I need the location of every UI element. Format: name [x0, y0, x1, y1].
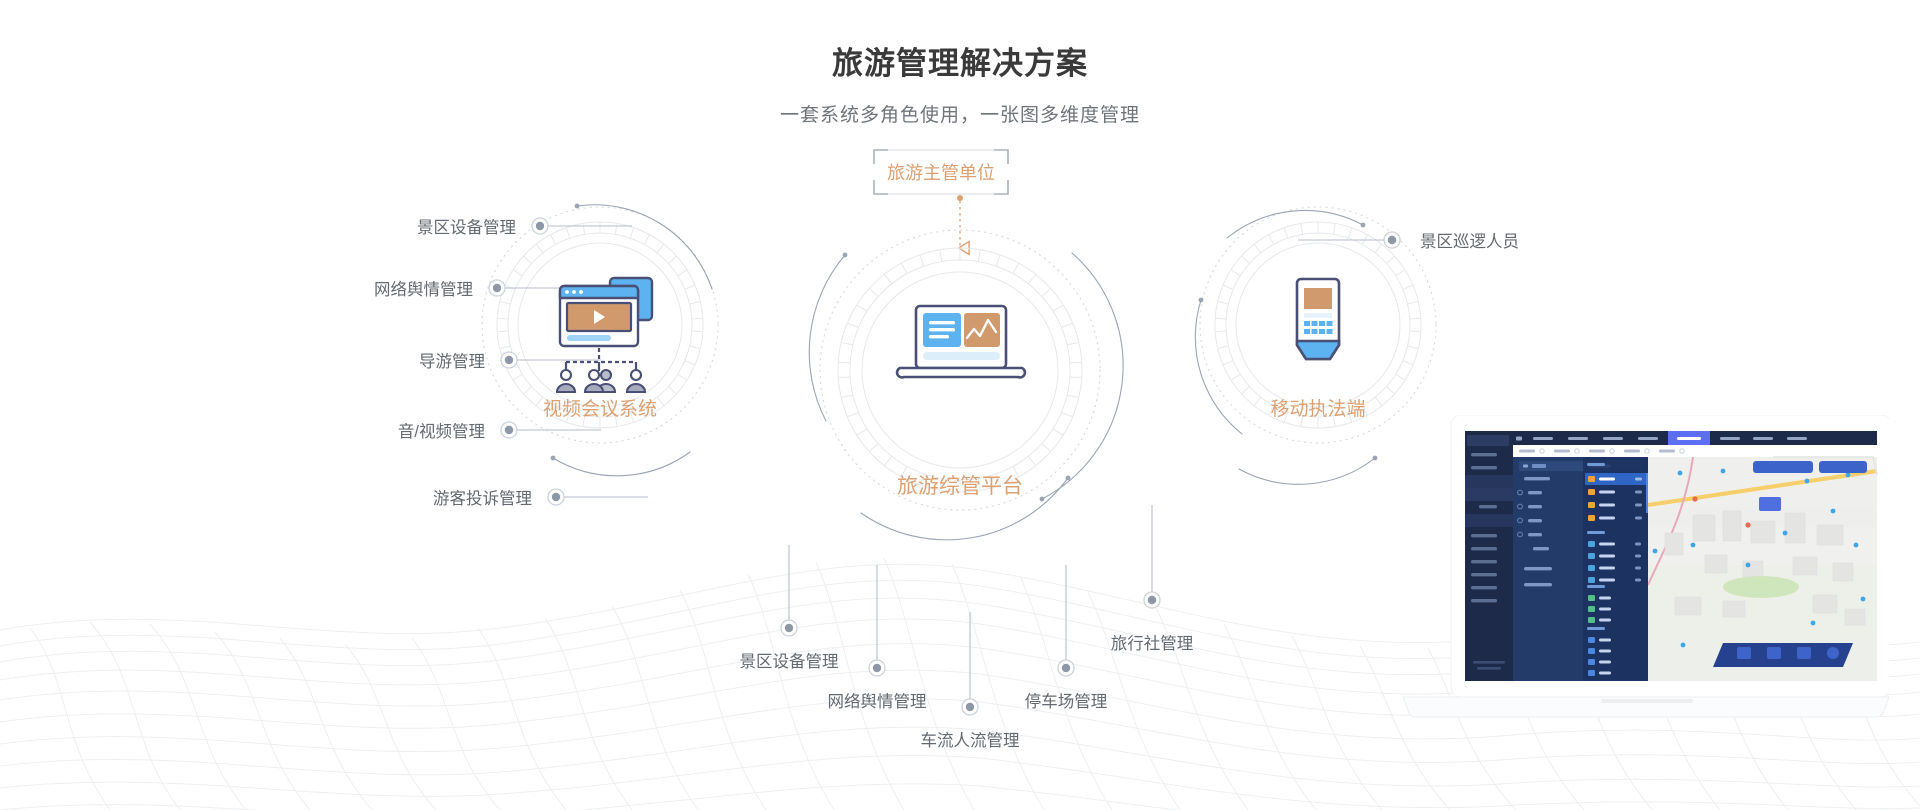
authority-label: 旅游主管单位 [874, 152, 1008, 192]
mobile-terminal-icon [1297, 279, 1339, 359]
label-left-2: 网络舆情管理 [193, 276, 473, 300]
label-bottom-1: 景区设备管理 [669, 648, 909, 672]
authority-connector [957, 195, 963, 248]
right-dots [1384, 232, 1400, 248]
label-bottom-5: 旅行社管理 [1032, 630, 1272, 654]
label-left-5: 游客投诉管理 [252, 485, 532, 509]
video-conference-icon [557, 278, 652, 392]
node-caption-platform: 旅游综管平台 [855, 470, 1065, 500]
laptop-dashboard-icon [897, 306, 1025, 377]
label-left-4: 音/视频管理 [205, 418, 485, 442]
solution-infographic: 旅游管理解决方案 一套系统多角色使用，一张图多维度管理 [0, 0, 1920, 810]
label-left-1: 景区设备管理 [236, 214, 516, 238]
node-caption-video-conference: 视频会议系统 [500, 394, 700, 421]
label-bottom-3: 车流人流管理 [850, 727, 1090, 751]
label-bottom-4: 停车场管理 [946, 688, 1186, 712]
node-caption-mobile-enforcement: 移动执法端 [1218, 394, 1418, 421]
label-right-1: 景区巡逻人员 [1420, 228, 1680, 252]
label-left-3: 导游管理 [205, 348, 485, 372]
laptop-mockup [1393, 415, 1889, 755]
